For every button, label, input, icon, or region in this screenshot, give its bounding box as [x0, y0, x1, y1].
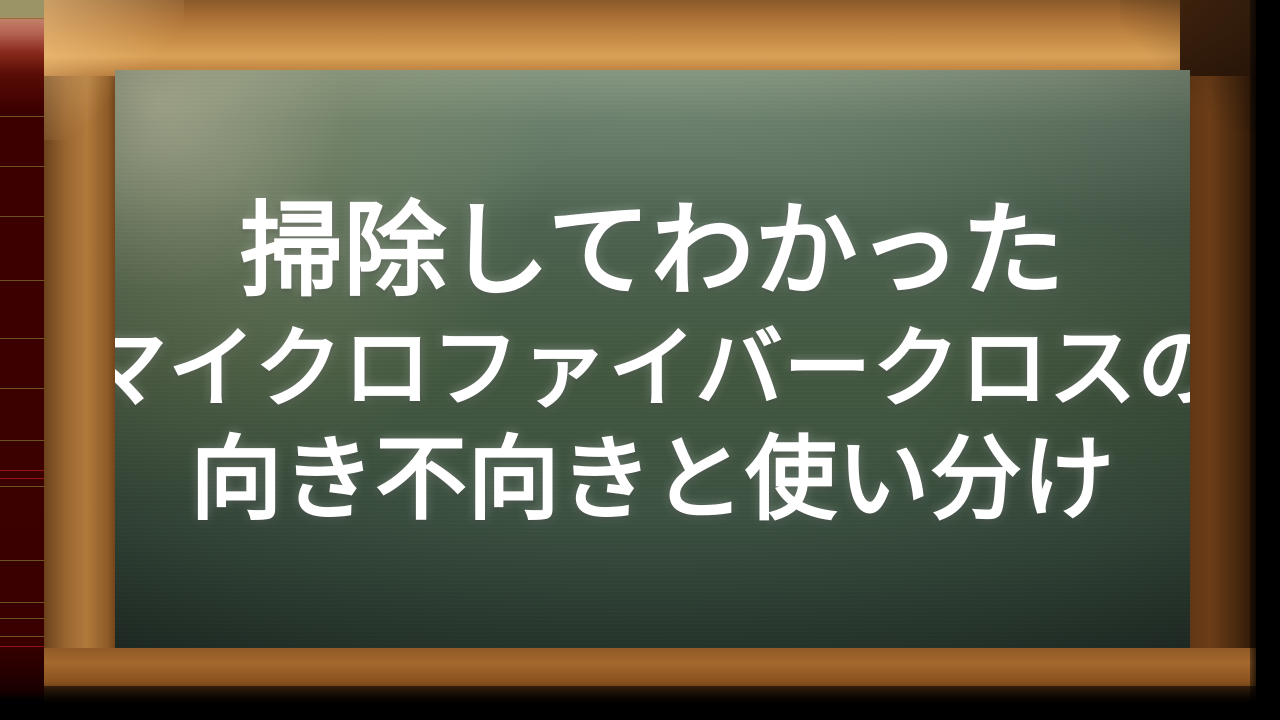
frame-rail-left [44, 0, 122, 702]
edge-scanline [0, 636, 44, 637]
edge-scanline [0, 280, 44, 281]
edge-scanline [0, 602, 44, 603]
left-edge-strip [0, 0, 44, 720]
edge-scanline [0, 478, 44, 479]
frame-rail-right [1185, 0, 1256, 702]
headline-line-2: マイクロファイバークロスの [115, 322, 1190, 415]
edge-scanline [0, 486, 44, 487]
frame-rail-top-right-shadow [1180, 0, 1256, 76]
chalkboard-surface: 掃除してわかった マイクロファイバークロスの 向き不向きと使い分け [115, 70, 1190, 648]
edge-scanline [0, 166, 44, 167]
edge-scanline [0, 338, 44, 339]
frame-rail-bottom-ledge [44, 648, 1256, 702]
edge-scanline [0, 440, 44, 441]
frame-rail-top [44, 0, 1256, 76]
edge-scanline [0, 618, 44, 619]
headline-block: 掃除してわかった マイクロファイバークロスの 向き不向きと使い分け [115, 70, 1190, 648]
edge-scanline [0, 560, 44, 561]
edge-scanline [0, 216, 44, 217]
edge-scanline [0, 470, 44, 471]
headline-line-1: 掃除してわかった [240, 197, 1065, 306]
edge-scanline [0, 116, 44, 117]
title-card-stage: 掃除してわかった マイクロファイバークロスの 向き不向きと使い分け [0, 0, 1280, 720]
edge-scanline [0, 646, 44, 647]
edge-scanline [0, 18, 44, 19]
headline-line-3: 向き不向きと使い分け [190, 431, 1115, 529]
edge-scanline [0, 388, 44, 389]
